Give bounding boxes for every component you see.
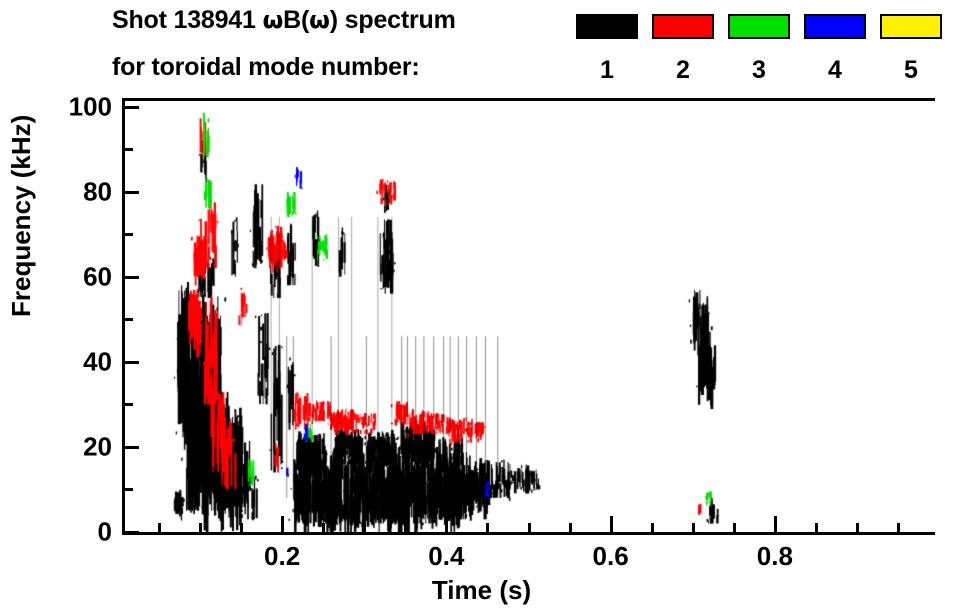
legend-item-5[interactable]: 5 [880, 14, 942, 39]
legend-item-3[interactable]: 3 [728, 14, 790, 39]
x-axis-title: Time (s) [0, 575, 963, 606]
x-tick-label: 0.4 [428, 541, 464, 572]
figure-title-line-1: Shot 138941 ωB(ω) spectrum [112, 6, 456, 35]
legend-label-4: 4 [804, 56, 866, 85]
x-tick-label: 0.6 [593, 541, 629, 572]
omega-symbol-1: ω [262, 6, 283, 34]
x-tick-label: 0.8 [757, 541, 793, 572]
spectrogram-figure: Shot 138941 ωB(ω) spectrum for toroidal … [0, 0, 963, 615]
spectrogram-canvas [122, 98, 935, 535]
title-text-suffix: ) spectrum [330, 6, 456, 34]
y-tick-label: 0 [98, 517, 112, 548]
y-axis-title: Frequency (kHz) [6, 115, 37, 317]
legend-swatch-4 [804, 14, 866, 39]
title-text-mid: B( [283, 6, 309, 34]
y-tick-label: 100 [69, 91, 112, 122]
title-text-prefix: Shot 138941 [112, 6, 262, 34]
omega-symbol-2: ω [309, 6, 330, 34]
y-tick-label: 60 [83, 261, 112, 292]
legend-swatch-3 [728, 14, 790, 39]
legend-swatch-1 [576, 14, 638, 39]
legend-label-1: 1 [576, 56, 638, 85]
y-tick-label: 20 [83, 431, 112, 462]
legend-item-1[interactable]: 1 [576, 14, 638, 39]
legend-label-3: 3 [728, 56, 790, 85]
legend-item-4[interactable]: 4 [804, 14, 866, 39]
y-tick-label: 40 [83, 346, 112, 377]
legend-item-2[interactable]: 2 [652, 14, 714, 39]
legend-swatch-5 [880, 14, 942, 39]
plot-area: 0204060801000.20.40.60.8 [122, 98, 935, 535]
figure-title-line-2: for toroidal mode number: [112, 53, 420, 82]
legend-label-2: 2 [652, 56, 714, 85]
x-tick-label: 0.2 [264, 541, 300, 572]
legend-swatch-2 [652, 14, 714, 39]
legend-label-5: 5 [880, 56, 942, 85]
y-tick-label: 80 [83, 176, 112, 207]
